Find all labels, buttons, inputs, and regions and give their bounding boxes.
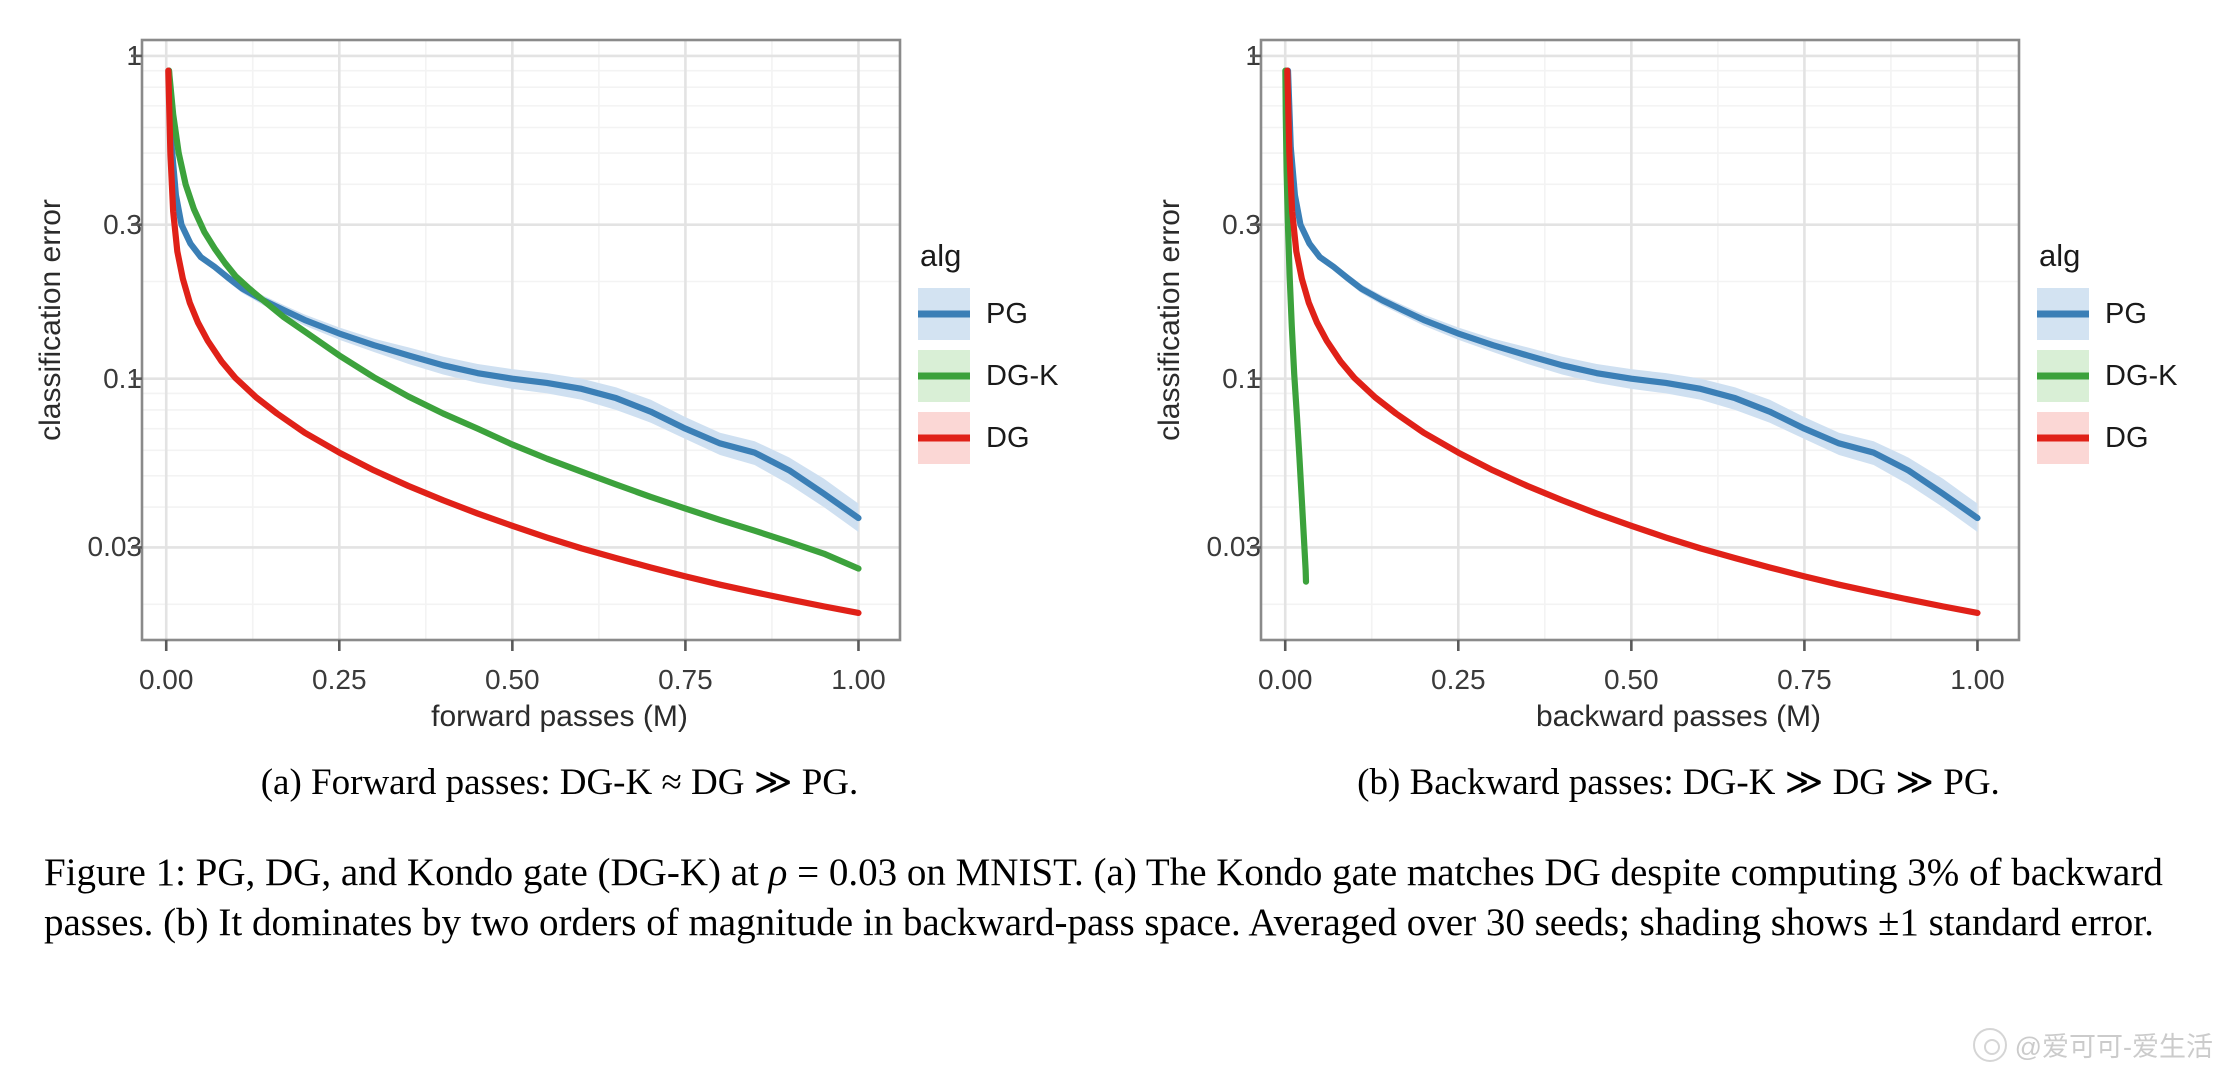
panels-row: classification error 10.30.10.03 0.000.2… [0, 0, 2239, 760]
x-tick-label: 0.75 [1777, 664, 1832, 696]
legend-line [2037, 311, 2089, 318]
x-tick-label: 1.00 [831, 664, 886, 696]
subcaption-row: (a) Forward passes: DG-K ≈ DG ≫ PG. (b) … [0, 760, 2239, 830]
weibo-logo-icon [1973, 1028, 2007, 1062]
legend-label: DG-K [986, 360, 1059, 393]
legend-item-pg[interactable]: PG [2037, 288, 2178, 340]
legend-swatch-icon [2037, 412, 2089, 464]
panel-a-x-axis-label: forward passes (M) [0, 700, 1119, 734]
caption-part-1: Figure 1: PG, DG, and Kondo gate (DG-K) … [44, 851, 769, 894]
x-tick-label: 0.25 [312, 664, 367, 696]
legend-label: DG-K [2105, 360, 2178, 393]
caption-rho-symbol: ρ [769, 851, 788, 894]
legend-title: alg [2037, 238, 2178, 274]
legend-line [2037, 373, 2089, 380]
legend-item-pg[interactable]: PG [918, 288, 1059, 340]
legend-line [2037, 435, 2089, 442]
legend-swatch-icon [918, 412, 970, 464]
panel-b-legend: alg PGDG-KDG [2037, 238, 2178, 474]
figure-caption: Figure 1: PG, DG, and Kondo gate (DG-K) … [44, 848, 2204, 948]
x-tick-label: 1.00 [1950, 664, 2005, 696]
figure-container: classification error 10.30.10.03 0.000.2… [0, 0, 2239, 1080]
legend-swatch-icon [2037, 350, 2089, 402]
panel-b-x-axis-label: backward passes (M) [1119, 700, 2238, 734]
legend-item-dg-k[interactable]: DG-K [918, 350, 1059, 402]
legend-swatch-icon [918, 288, 970, 340]
watermark-text: @爱可可-爱生活 [2015, 1025, 2213, 1064]
legend-item-dg[interactable]: DG [918, 412, 1059, 464]
legend-item-dg-k[interactable]: DG-K [2037, 350, 2178, 402]
panel-b: classification error 10.30.10.03 0.000.2… [1119, 0, 2238, 760]
panel-a: classification error 10.30.10.03 0.000.2… [0, 0, 1119, 760]
legend-swatch-icon [2037, 288, 2089, 340]
subcaption-a: (a) Forward passes: DG-K ≈ DG ≫ PG. [0, 760, 1119, 830]
legend-label: PG [2105, 298, 2147, 331]
legend-title: alg [918, 238, 1059, 274]
panel-a-legend: alg PGDG-KDG [918, 238, 1059, 474]
legend-swatch-icon [918, 350, 970, 402]
subcaption-b: (b) Backward passes: DG-K ≫ DG ≫ PG. [1119, 760, 2238, 830]
x-tick-label: 0.00 [1258, 664, 1313, 696]
legend-line [918, 373, 970, 380]
legend-item-dg[interactable]: DG [2037, 412, 2178, 464]
x-tick-label: 0.50 [485, 664, 540, 696]
x-tick-label: 0.25 [1431, 664, 1486, 696]
legend-label: DG [986, 422, 1030, 455]
legend-line [918, 435, 970, 442]
x-tick-label: 0.75 [658, 664, 713, 696]
x-tick-label: 0.00 [139, 664, 194, 696]
legend-label: DG [2105, 422, 2149, 455]
legend-label: PG [986, 298, 1028, 331]
x-tick-label: 0.50 [1604, 664, 1659, 696]
legend-line [918, 311, 970, 318]
watermark: @爱可可-爱生活 [1973, 1025, 2213, 1064]
